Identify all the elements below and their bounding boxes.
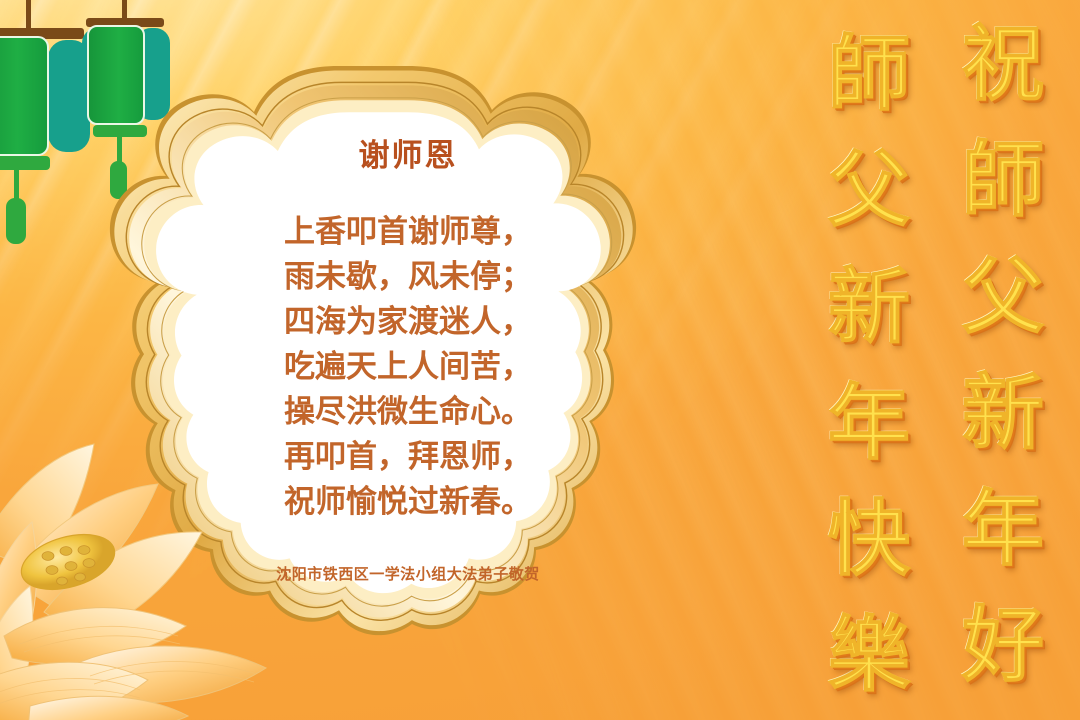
poem-line: 雨未歇，风未停；	[284, 254, 532, 299]
greeting-char: 祝	[962, 26, 1044, 105]
greeting-char: 師	[828, 36, 910, 115]
greeting-column-right: 祝 師 父 新 年 好	[940, 26, 1066, 686]
lantern-icon	[0, 0, 90, 244]
greeting-char: 好	[962, 607, 1044, 686]
greeting-char: 快	[828, 501, 910, 580]
greeting-calligraphy: 祝 師 父 新 年 好 師 父 新 年 快 樂	[796, 26, 1066, 686]
greeting-card: 谢师恩 上香叩首谢师尊， 雨未歇，风未停； 四海为家渡迷人， 吃遍天上人间苦， …	[0, 0, 1080, 720]
greeting-column-left: 師 父 新 年 快 樂	[806, 26, 932, 696]
poem-line: 操尽洪微生命心。	[284, 389, 532, 434]
poem-line: 吃遍天上人间苦，	[284, 344, 532, 389]
lotus-flower-icon	[0, 430, 280, 720]
poem-line: 祝师愉悦过新春。	[284, 479, 532, 524]
greeting-char: 師	[962, 142, 1044, 221]
greeting-char: 父	[962, 259, 1044, 338]
poem-line: 上香叩首谢师尊，	[284, 209, 532, 254]
greeting-char: 新	[828, 269, 910, 348]
poem-line: 四海为家渡迷人，	[284, 299, 532, 344]
page-title: 谢师恩	[359, 130, 458, 175]
poem-body: 上香叩首谢师尊， 雨未歇，风未停； 四海为家渡迷人， 吃遍天上人间苦， 操尽洪微…	[284, 209, 532, 524]
greeting-char: 年	[828, 385, 910, 464]
greeting-char: 父	[828, 152, 910, 231]
poem-line: 再叩首，拜恩师，	[284, 434, 532, 479]
greeting-char: 年	[962, 491, 1044, 570]
greeting-char: 樂	[828, 617, 910, 696]
greeting-char: 新	[962, 375, 1044, 454]
